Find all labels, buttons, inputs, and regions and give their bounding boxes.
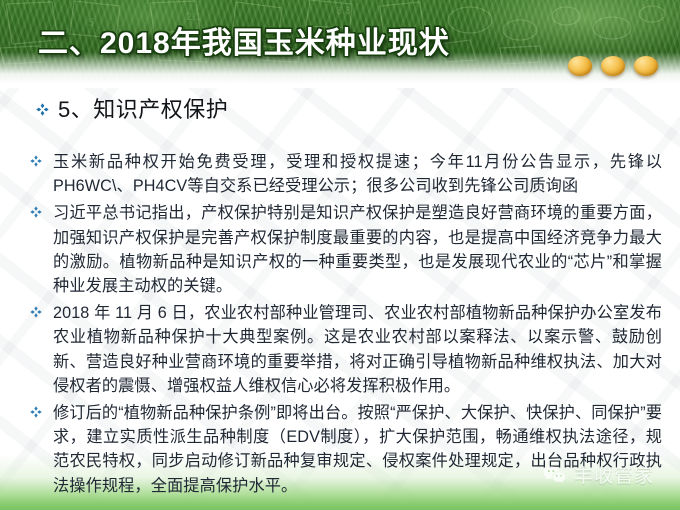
diamond-cluster-icon xyxy=(30,305,46,326)
brand-watermark: 丰收管家 xyxy=(543,461,654,488)
list-item-text: 习近平总书记指出，产权保护特别是知识产权保护是塑造良好营商环境的重要方面，加强知… xyxy=(53,201,662,298)
list-item: 玉米新品种权开始免费受理，受理和授权提速；今年11月份公告显示，先锋以PH6WC… xyxy=(30,150,662,198)
list-item-text: 2018 年 11 月 6 日，农业农村部种业管理司、农业农村部植物新品种保护办… xyxy=(53,301,662,398)
brand-name: 丰收管家 xyxy=(574,461,654,488)
subtitle-text: 5、知识产权保护 xyxy=(58,92,228,124)
list-item: 2018 年 11 月 6 日，农业农村部种业管理司、农业农村部植物新品种保护办… xyxy=(30,301,662,398)
header-decoration-circles xyxy=(568,56,658,76)
diamond-cluster-icon xyxy=(30,405,46,426)
wechat-icon xyxy=(543,465,567,484)
diamond-cluster-icon xyxy=(30,154,46,175)
decoration-circle xyxy=(601,56,625,76)
slide-header: 8.3 2.1 5 二、2018年我国玉米种业现状 xyxy=(0,0,680,88)
section-subtitle: 5、知识产权保护 xyxy=(36,92,228,124)
decoration-circle xyxy=(568,56,592,76)
content-bullet-list: 玉米新品种权开始免费受理，受理和授权提速；今年11月份公告显示，先锋以PH6WC… xyxy=(30,150,662,501)
presentation-slide: 8.3 2.1 5 二、2018年我国玉米种业现状 5、知识产权保护 xyxy=(0,0,680,510)
list-item: 习近平总书记指出，产权保护特别是知识产权保护是塑造良好营商环境的重要方面，加强知… xyxy=(30,201,662,298)
diamond-cluster-icon xyxy=(30,205,46,226)
list-item-text: 玉米新品种权开始免费受理，受理和授权提速；今年11月份公告显示，先锋以PH6WC… xyxy=(53,150,662,198)
decoration-circle xyxy=(634,56,658,76)
page-title: 二、2018年我国玉米种业现状 xyxy=(38,18,450,62)
diamond-cluster-icon xyxy=(36,103,49,116)
